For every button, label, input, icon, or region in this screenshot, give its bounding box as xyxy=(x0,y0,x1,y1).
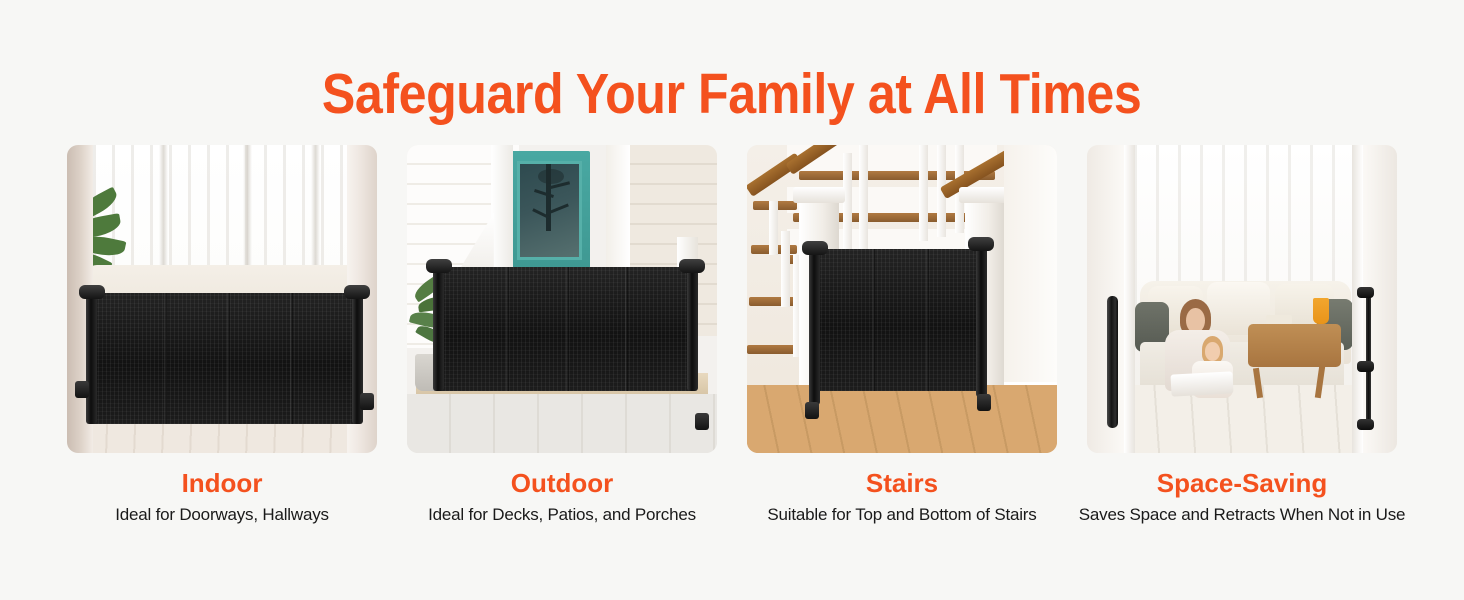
feature-card-outdoor[interactable]: Outdoor Ideal for Decks, Patios, and Por… xyxy=(407,145,717,525)
card-subtitle-outdoor: Ideal for Decks, Patios, and Porches xyxy=(428,504,696,525)
card-subtitle-indoor: Ideal for Doorways, Hallways xyxy=(115,504,329,525)
card-title-stairs: Stairs xyxy=(866,468,938,498)
feature-card-space-saving[interactable]: Space-Saving Saves Space and Retracts Wh… xyxy=(1087,145,1397,525)
retractable-gate-mesh xyxy=(94,293,355,424)
gate-cap-left xyxy=(802,241,828,255)
gate-cap-right xyxy=(968,237,994,251)
promo-banner: Safeguard Your Family at All Times xyxy=(0,0,1464,600)
gate-post-right xyxy=(976,245,987,397)
retractable-gate-mesh xyxy=(441,267,690,391)
gate-cap-right xyxy=(344,285,370,299)
hardwood-floor xyxy=(747,385,1057,453)
gate-bracket-bottom xyxy=(1357,419,1374,430)
retractable-gate-mesh xyxy=(817,249,979,391)
feature-card-row: Indoor Ideal for Doorways, Hallways xyxy=(0,145,1464,525)
gate-bracket-middle xyxy=(1357,361,1374,372)
card-subtitle-stairs: Suitable for Top and Bottom of Stairs xyxy=(767,504,1036,525)
card-title-space-saving: Space-Saving xyxy=(1157,468,1328,498)
newel-cap-left xyxy=(793,187,845,203)
stair-tread xyxy=(747,345,797,354)
door-glass-panel xyxy=(517,161,582,260)
indoor-scene-image xyxy=(67,145,377,453)
juice-glass xyxy=(1313,298,1329,324)
door-jamb-left xyxy=(1124,145,1135,453)
feature-card-indoor[interactable]: Indoor Ideal for Doorways, Hallways xyxy=(67,145,377,525)
gate-cap-left xyxy=(426,259,452,273)
space-saving-scene-image xyxy=(1087,145,1397,453)
walkway xyxy=(407,394,717,453)
newel-cap-right xyxy=(959,187,1011,203)
retracted-gate-cassette xyxy=(1107,296,1118,428)
gate-post-left xyxy=(86,293,97,424)
gate-bracket-right xyxy=(360,393,374,410)
daughter-face xyxy=(1205,342,1221,360)
door-jamb-right xyxy=(1352,145,1363,453)
gate-cap-left xyxy=(79,285,105,299)
wood-floor xyxy=(1124,385,1363,453)
gate-bracket-left xyxy=(75,381,89,398)
feature-card-stairs[interactable]: Stairs Suitable for Top and Bottom of St… xyxy=(747,145,1057,525)
gate-bracket-top xyxy=(1357,287,1374,298)
wall-left xyxy=(1087,145,1124,453)
book-stack xyxy=(1266,315,1292,324)
card-subtitle-space-saving: Saves Space and Retracts When Not in Use xyxy=(1079,504,1406,525)
stairs-scene-image xyxy=(747,145,1057,453)
card-title-outdoor: Outdoor xyxy=(511,468,614,498)
outdoor-scene-image xyxy=(407,145,717,453)
gate-post-left xyxy=(433,267,444,391)
gate-post-left xyxy=(809,249,820,405)
gate-cap-right xyxy=(679,259,705,273)
gate-foot-left xyxy=(805,402,819,419)
gate-post-right xyxy=(687,267,698,391)
page-title: Safeguard Your Family at All Times xyxy=(322,62,1141,126)
card-title-indoor: Indoor xyxy=(182,468,263,498)
gate-bracket-right xyxy=(695,413,709,430)
open-book xyxy=(1170,371,1233,396)
gate-foot-right xyxy=(977,394,991,411)
coffee-table xyxy=(1248,324,1341,367)
